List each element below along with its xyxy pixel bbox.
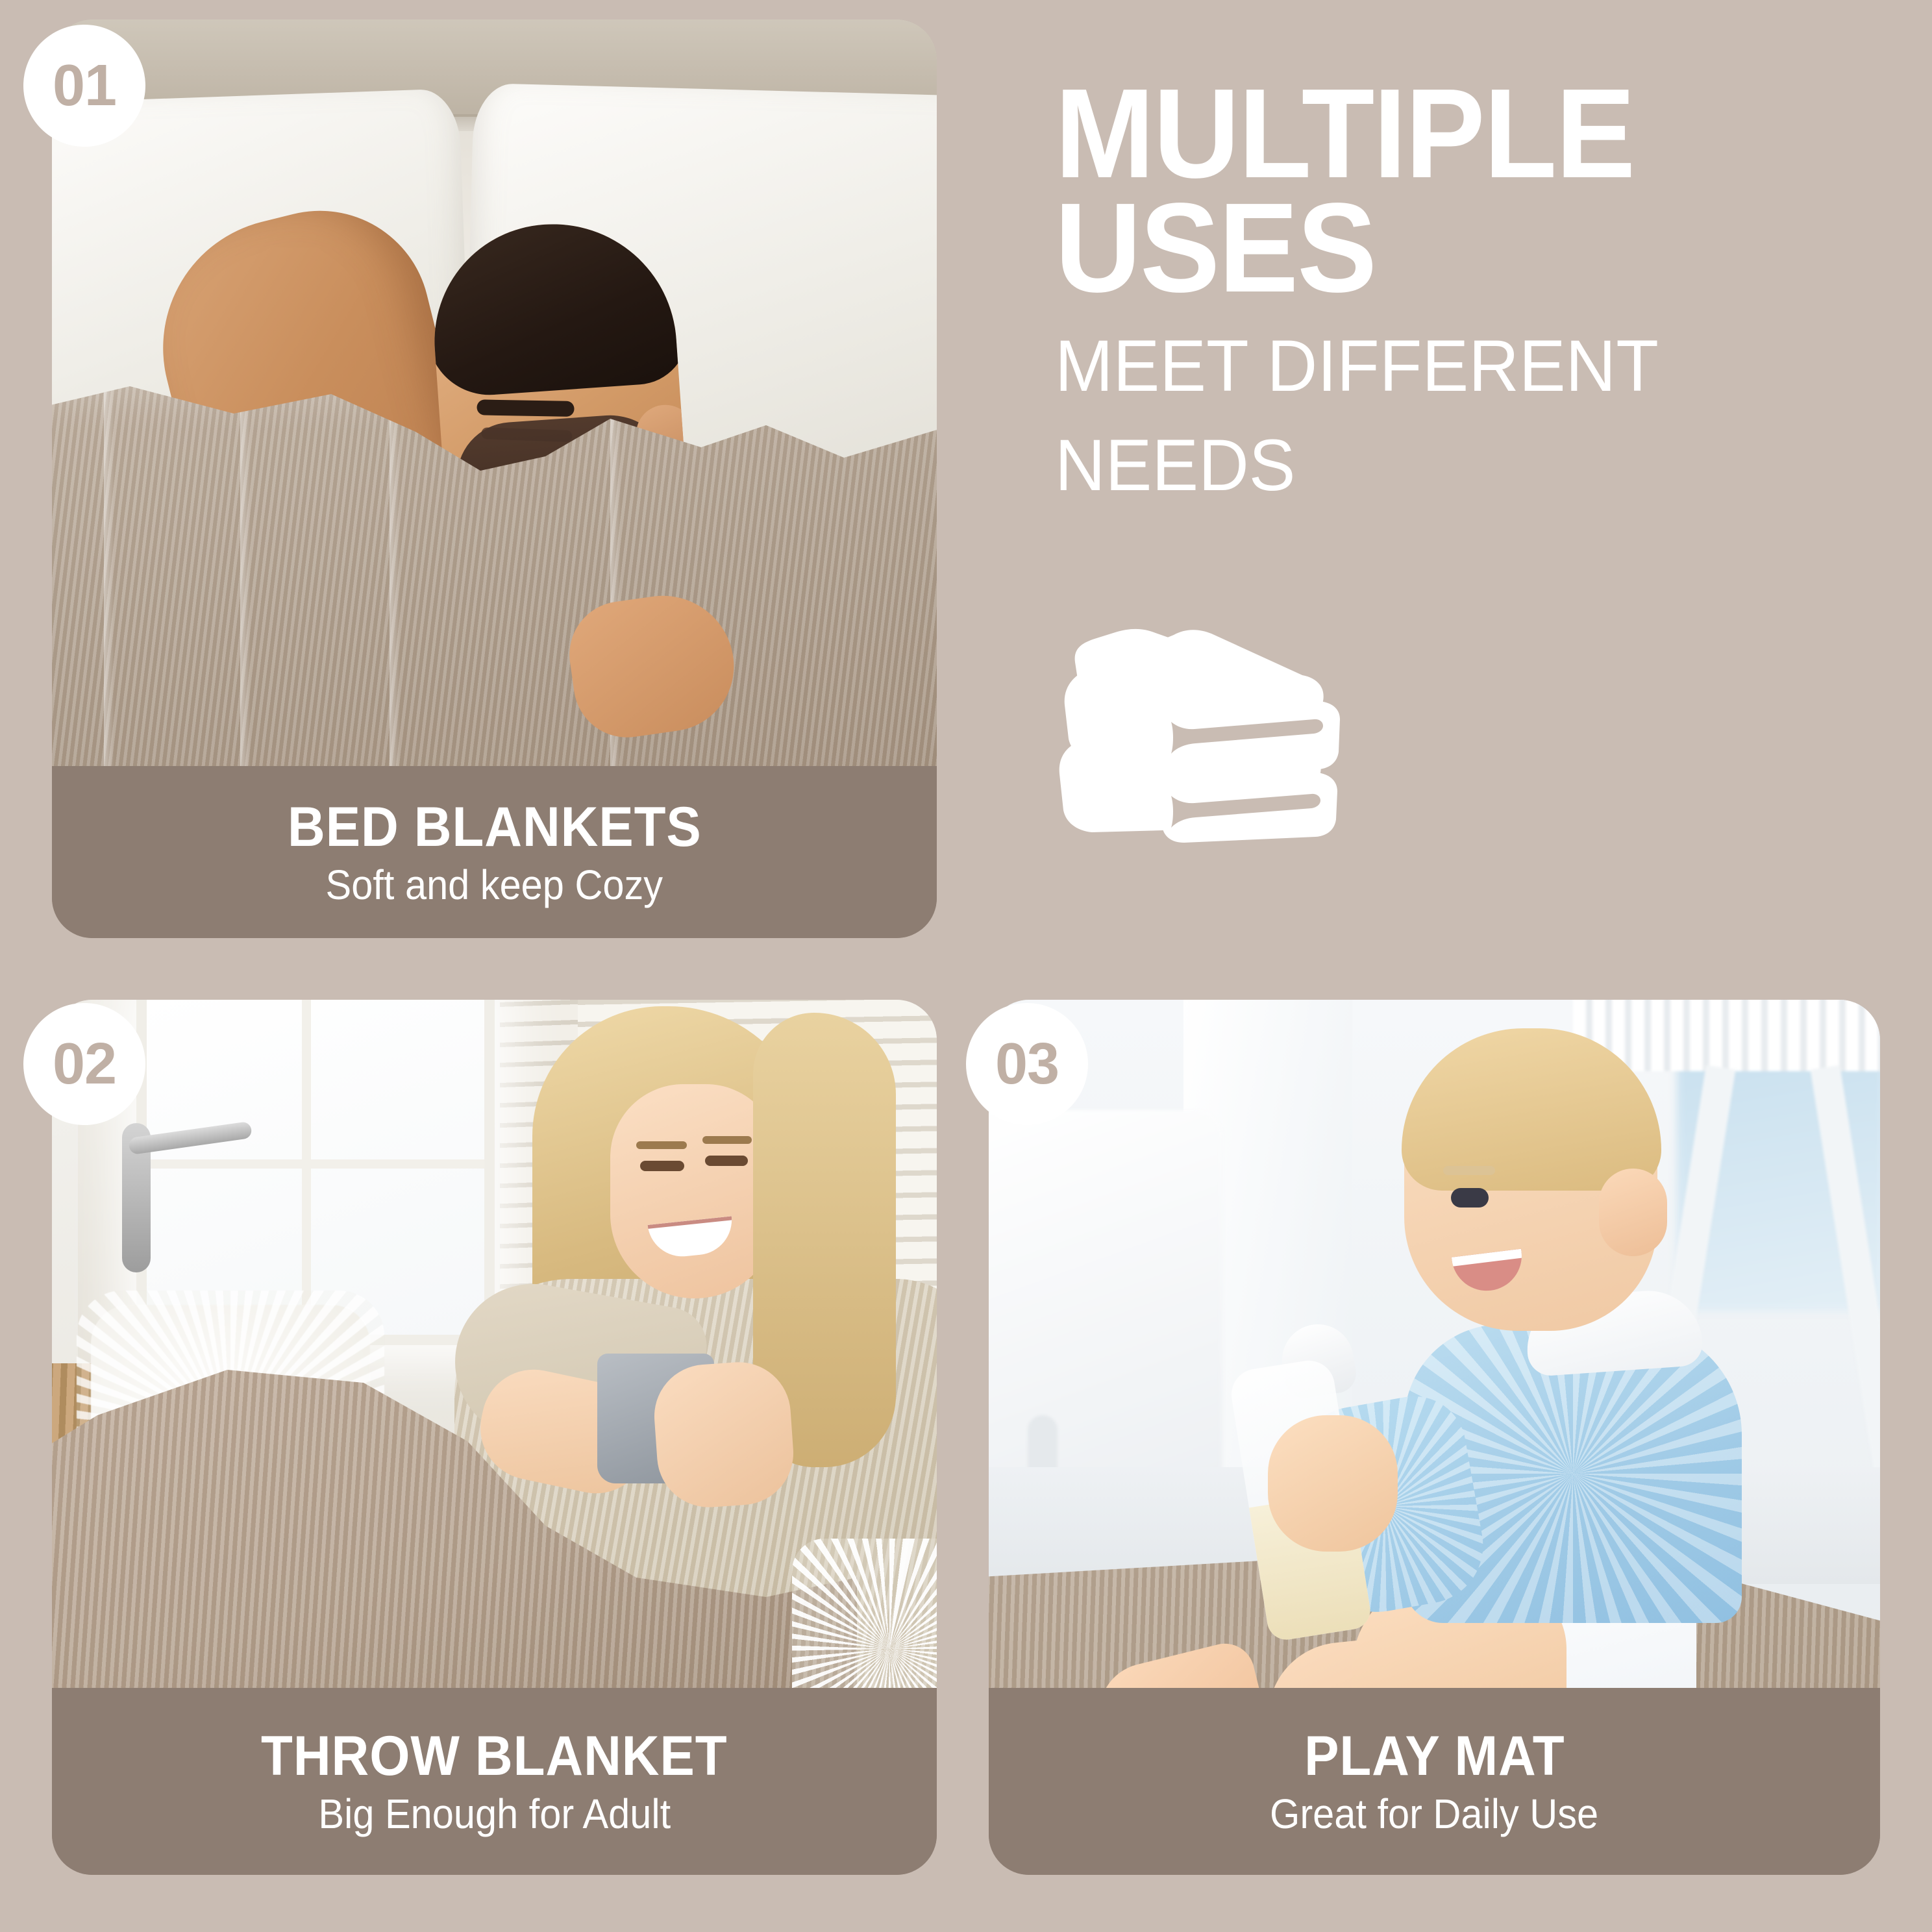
baby-eye (1451, 1188, 1489, 1207)
card-1-caption: BED BLANKETS Soft and keep Cozy (52, 766, 937, 938)
subhead-line-1: MEET DIFFERENT (1055, 328, 1865, 405)
card-3-photo (989, 1000, 1880, 1688)
use-case-card-2[interactable]: THROW BLANKET Big Enough for Adult (52, 1000, 937, 1875)
card-3-subtitle: Great for Daily Use (1270, 1793, 1598, 1835)
eyebrow (477, 399, 574, 417)
use-case-card-3[interactable]: PLAY MAT Great for Daily Use (989, 1000, 1880, 1875)
folded-blankets-icon (1057, 625, 1407, 878)
card-2-subtitle: Big Enough for Adult (318, 1793, 671, 1835)
subhead-line-2: NEEDS (1055, 427, 1865, 504)
card-1-title: BED BLANKETS (288, 799, 702, 855)
step-badge-1: 01 (23, 25, 145, 147)
baby-ear (1599, 1169, 1667, 1256)
step-number-1: 01 (53, 56, 116, 115)
womans-hand (651, 1359, 797, 1511)
infographic-board: BED BLANKETS Soft and keep Cozy (0, 0, 1932, 1932)
card-3-title: PLAY MAT (1304, 1728, 1565, 1784)
card-2-caption: THROW BLANKET Big Enough for Adult (52, 1688, 937, 1875)
eyebrow-left (636, 1141, 687, 1149)
headline-line-2: USES (1055, 191, 1848, 305)
step-number-2: 02 (53, 1035, 116, 1093)
step-number-3: 03 (995, 1035, 1059, 1093)
use-case-card-1[interactable]: BED BLANKETS Soft and keep Cozy (52, 19, 937, 938)
card-1-photo (52, 19, 937, 766)
white-fur-pillow-right (792, 1539, 937, 1688)
step-badge-2: 02 (23, 1003, 145, 1125)
eye-left (640, 1161, 684, 1171)
eye-right (705, 1156, 748, 1166)
card-3-caption: PLAY MAT Great for Daily Use (989, 1688, 1880, 1875)
card-1-subtitle: Soft and keep Cozy (326, 864, 663, 906)
card-2-photo (52, 1000, 937, 1688)
white-chair (989, 1110, 1222, 1513)
step-badge-3: 03 (966, 1003, 1088, 1125)
card-2-title: THROW BLANKET (261, 1728, 727, 1784)
headline-panel: MULTIPLE USES MEET DIFFERENT NEEDS (1055, 77, 1899, 504)
headline-line-1: MULTIPLE (1055, 77, 1848, 191)
baby-hand (1268, 1415, 1398, 1552)
baby-eyebrow (1443, 1166, 1495, 1175)
eyebrow-right (702, 1136, 752, 1144)
